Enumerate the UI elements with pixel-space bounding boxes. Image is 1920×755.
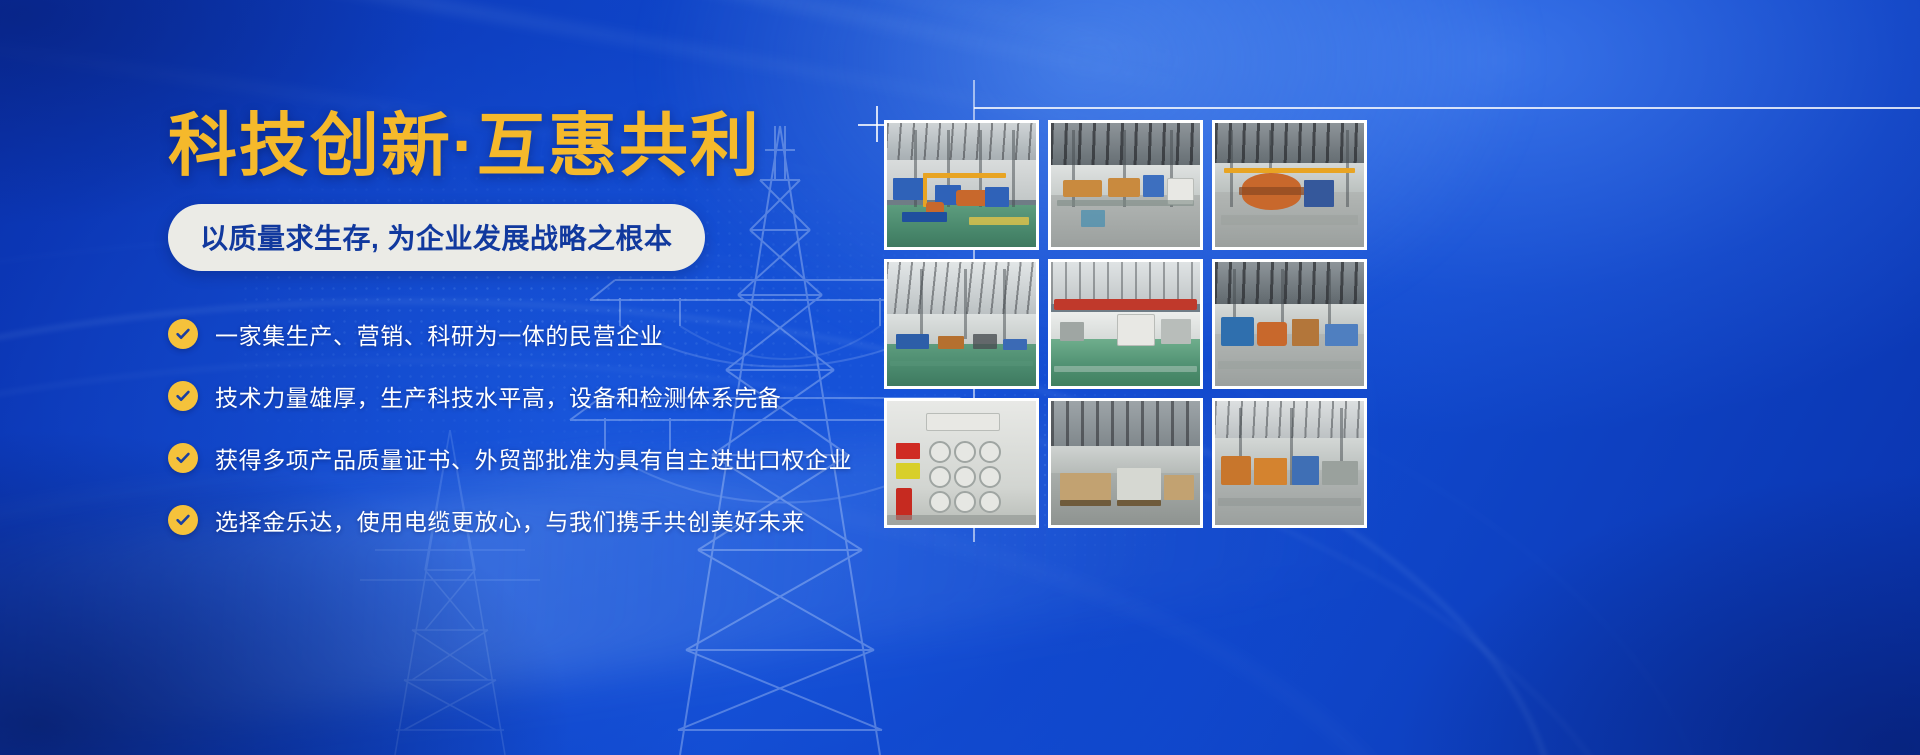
bullet-text: 一家集生产、营销、科研为一体的民营企业 [215, 317, 663, 351]
gallery-photo-r2c1[interactable] [884, 259, 1039, 389]
list-item: 技术力量雄厚，生产科技水平高，设备和检测体系完备 [168, 379, 868, 413]
photo-grid [884, 120, 1367, 528]
bullet-text: 选择金乐达，使用电缆更放心，与我们携手共创美好未来 [215, 503, 805, 537]
feature-bullet-list: 一家集生产、营销、科研为一体的民营企业 技术力量雄厚，生产科技水平高，设备和检测… [168, 317, 868, 537]
decorative-line-horizontal-long [974, 107, 1920, 109]
gallery-photo-r1c1[interactable] [884, 120, 1039, 250]
check-circle-icon [168, 381, 198, 411]
subtitle-pill: 以质量求生存, 为企业发展战略之根本 [168, 204, 705, 271]
gallery-photo-r2c2[interactable] [1048, 259, 1203, 389]
gallery-photo-r3c3[interactable] [1212, 398, 1367, 528]
headline-title: 科技创新·互惠共利 [168, 110, 868, 182]
gallery-photo-r2c3[interactable] [1212, 259, 1367, 389]
gallery-photo-r3c1[interactable] [884, 398, 1039, 528]
check-circle-icon [168, 505, 198, 535]
light-ray-1 [0, 0, 1225, 102]
check-circle-icon [168, 319, 198, 349]
check-circle-icon [168, 443, 198, 473]
photo-gallery-panel [884, 88, 1844, 508]
gallery-photo-r3c2[interactable] [1048, 398, 1203, 528]
promotional-banner: 科技创新·互惠共利 以质量求生存, 为企业发展战略之根本 一家集生产、营销、科研… [0, 0, 1920, 755]
list-item: 获得多项产品质量证书、外贸部批准为具有自主进出口权企业 [168, 441, 868, 475]
bullet-text: 技术力量雄厚，生产科技水平高，设备和检测体系完备 [215, 379, 781, 413]
banner-text-block: 科技创新·互惠共利 以质量求生存, 为企业发展战略之根本 一家集生产、营销、科研… [168, 110, 868, 565]
decorative-line-vertical-short [876, 106, 878, 142]
light-ray-4 [0, 0, 1239, 89]
gallery-photo-r1c2[interactable] [1048, 120, 1203, 250]
list-item: 选择金乐达，使用电缆更放心，与我们携手共创美好未来 [168, 503, 868, 537]
list-item: 一家集生产、营销、科研为一体的民营企业 [168, 317, 868, 351]
bullet-text: 获得多项产品质量证书、外贸部批准为具有自主进出口权企业 [215, 441, 852, 475]
gallery-photo-r1c3[interactable] [1212, 120, 1367, 250]
